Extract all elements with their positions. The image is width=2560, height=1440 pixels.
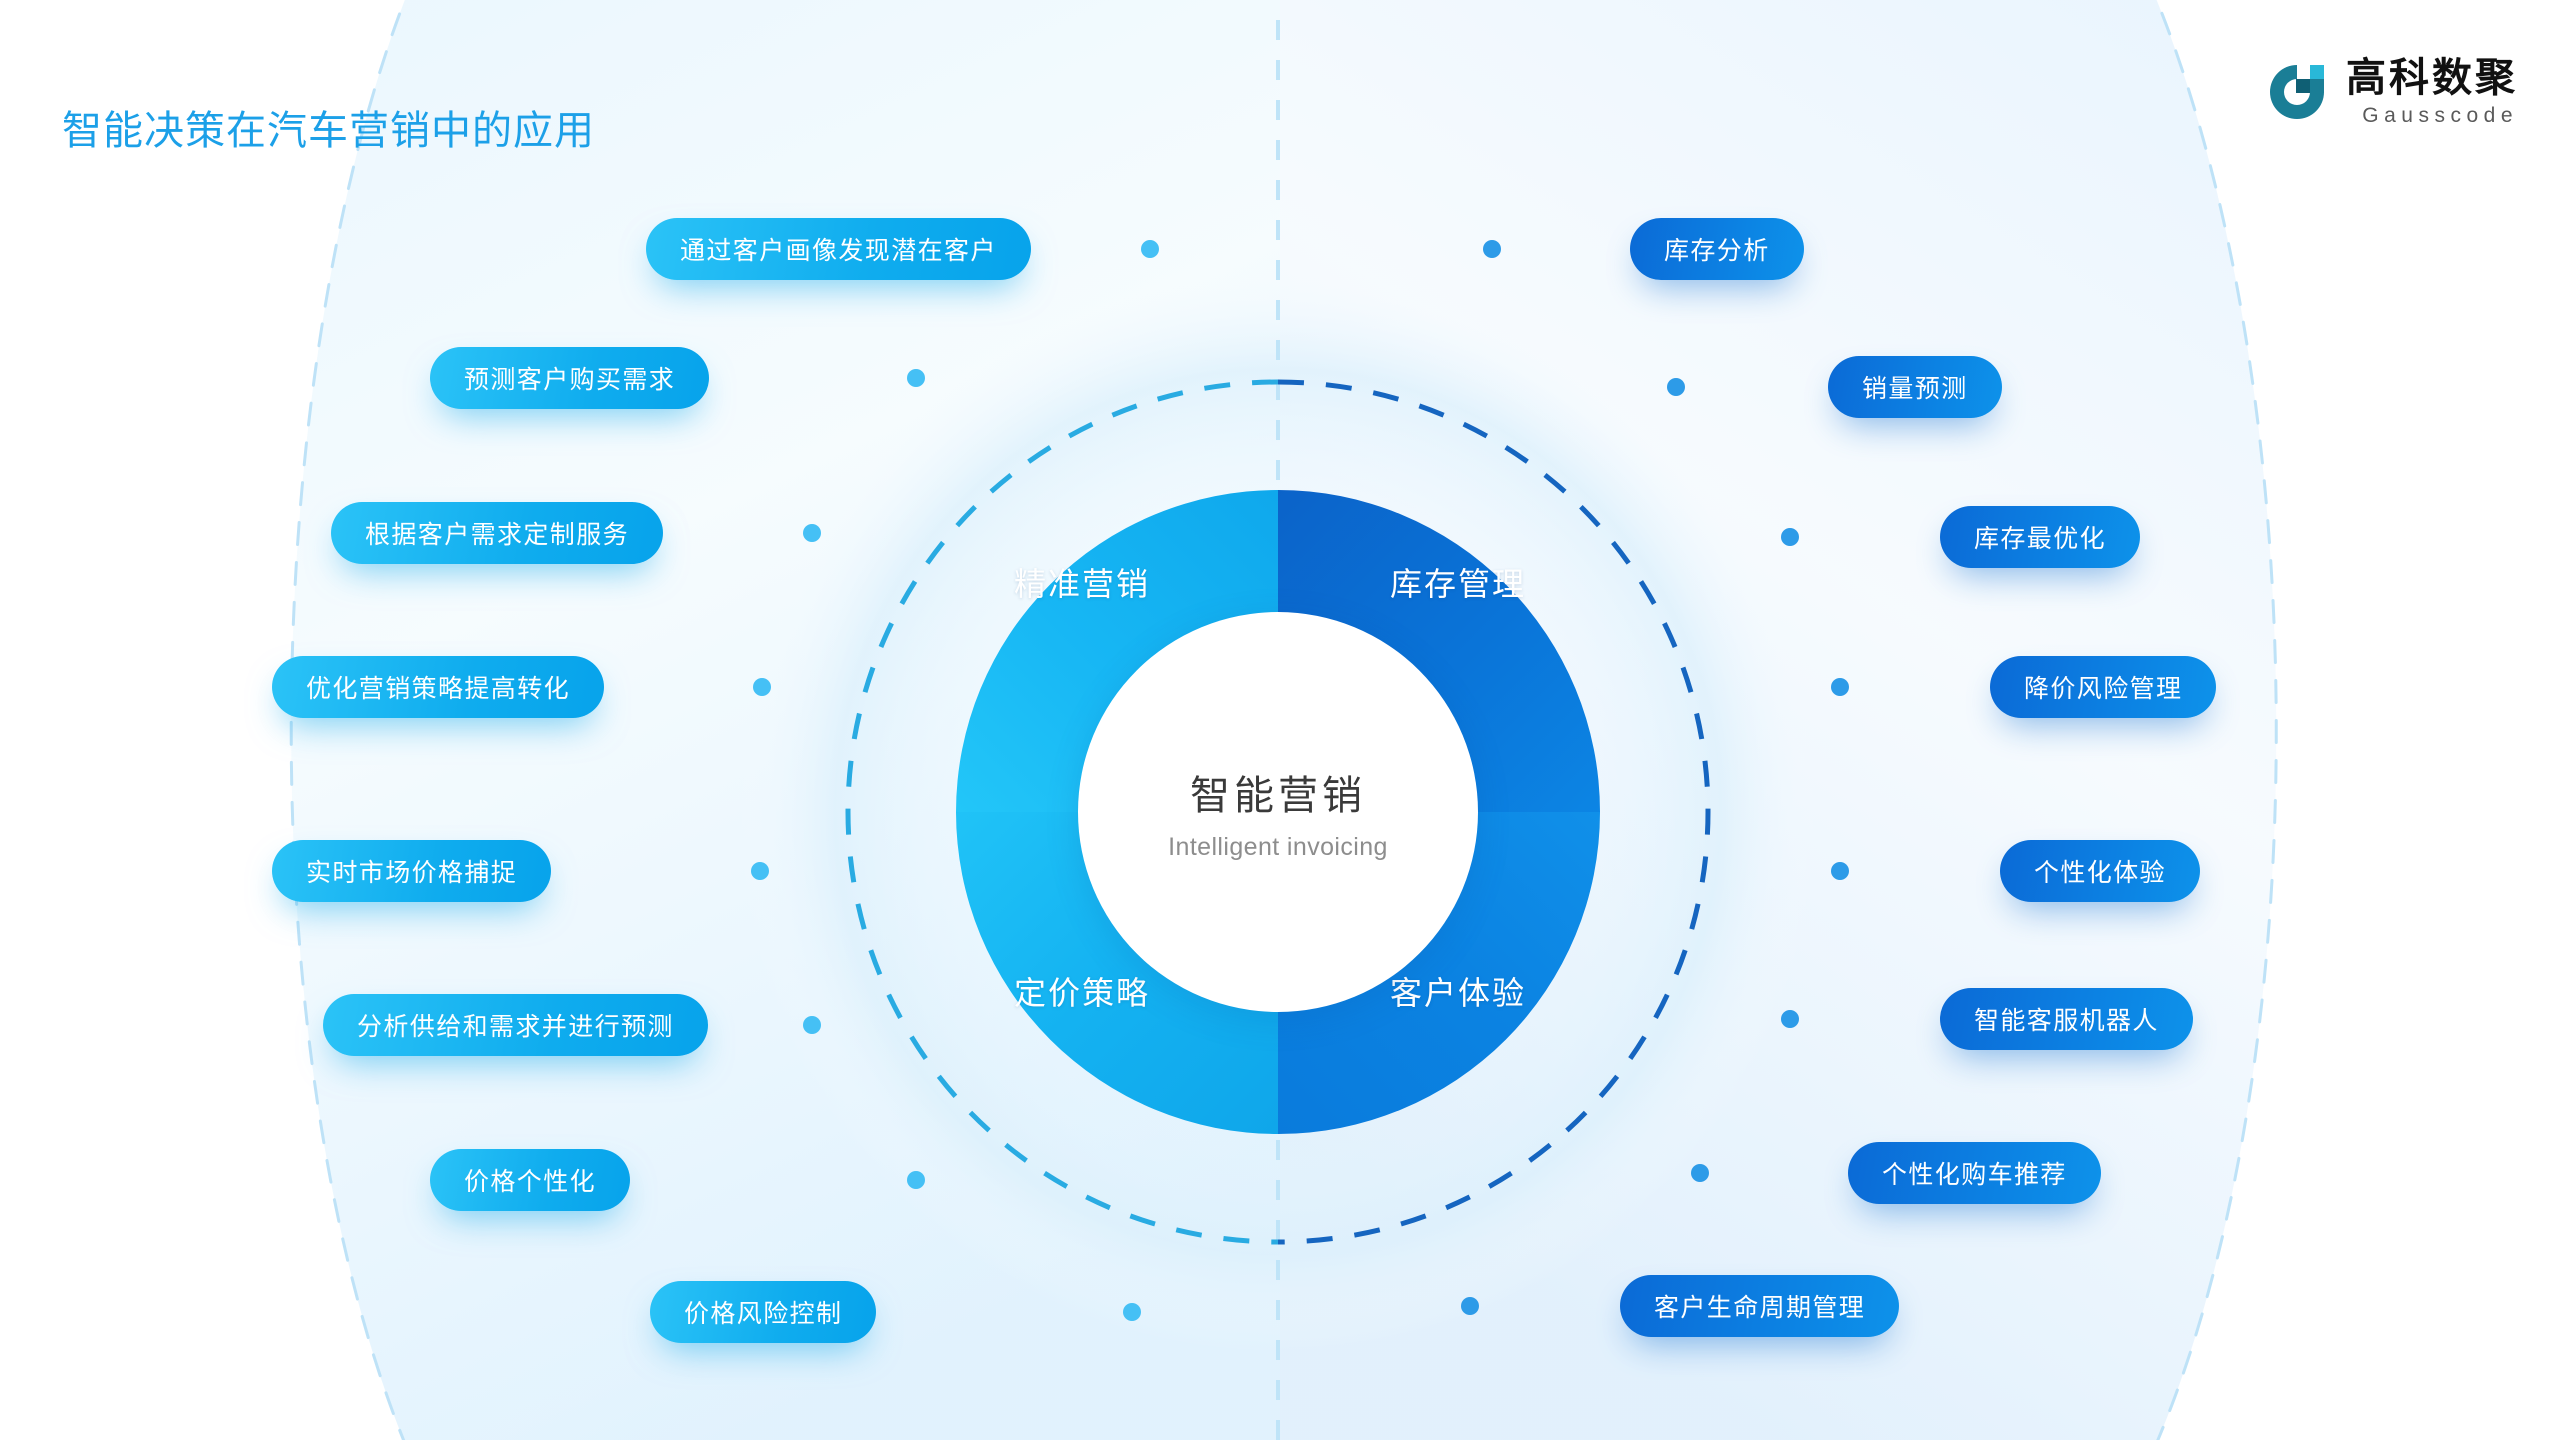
right-item-5-label: 个性化体验 bbox=[2034, 853, 2166, 889]
left-item-4[interactable]: 优化营销策略提高转化 bbox=[272, 656, 604, 718]
page-title: 智能决策在汽车营销中的应用 bbox=[62, 98, 595, 156]
right-item-8-label: 客户生命周期管理 bbox=[1654, 1288, 1865, 1324]
left-item-2[interactable]: 预测客户购买需求 bbox=[430, 347, 709, 409]
brand-name-cn: 高科数聚 bbox=[2346, 58, 2518, 98]
right-item-6-label: 智能客服机器人 bbox=[1974, 1001, 2159, 1037]
left-item-4-label: 优化营销策略提高转化 bbox=[306, 669, 570, 705]
right-item-1[interactable]: 库存分析 bbox=[1630, 218, 1804, 280]
quadrant-label-bottom-right: 客户体验 bbox=[1390, 968, 1526, 1014]
right-item-4[interactable]: 降价风险管理 bbox=[1990, 656, 2216, 718]
right-item-2[interactable]: 销量预测 bbox=[1828, 356, 2002, 418]
right-item-2-label: 销量预测 bbox=[1862, 369, 1968, 405]
left-item-3[interactable]: 根据客户需求定制服务 bbox=[331, 502, 663, 564]
right-item-5[interactable]: 个性化体验 bbox=[2000, 840, 2200, 902]
center-hub: 智能营销 Intelligent invoicing bbox=[1078, 612, 1478, 1012]
left-item-8[interactable]: 价格风险控制 bbox=[650, 1281, 876, 1343]
hub-title-cn: 智能营销 bbox=[1190, 763, 1366, 821]
right-item-8[interactable]: 客户生命周期管理 bbox=[1620, 1275, 1899, 1337]
left-item-6[interactable]: 分析供给和需求并进行预测 bbox=[323, 994, 708, 1056]
core-diagram: 精准营销 库存管理 定价策略 客户体验 智能营销 Intelligent inv… bbox=[798, 332, 1758, 1292]
left-item-8-label: 价格风险控制 bbox=[684, 1294, 842, 1330]
quadrant-label-top-right: 库存管理 bbox=[1390, 559, 1526, 605]
right-item-6[interactable]: 智能客服机器人 bbox=[1940, 988, 2193, 1050]
left-item-7-label: 价格个性化 bbox=[464, 1162, 596, 1198]
left-item-1[interactable]: 通过客户画像发现潜在客户 bbox=[646, 218, 1031, 280]
right-item-3-label: 库存最优化 bbox=[1974, 519, 2106, 555]
quadrant-label-bottom-left: 定价策略 bbox=[1014, 968, 1150, 1014]
right-item-4-label: 降价风险管理 bbox=[2024, 669, 2182, 705]
hub-title-en: Intelligent invoicing bbox=[1168, 833, 1388, 862]
right-item-7[interactable]: 个性化购车推荐 bbox=[1848, 1142, 2101, 1204]
left-item-2-label: 预测客户购买需求 bbox=[464, 360, 675, 396]
right-item-1-label: 库存分析 bbox=[1664, 231, 1770, 267]
left-item-1-label: 通过客户画像发现潜在客户 bbox=[680, 231, 997, 267]
left-item-7[interactable]: 价格个性化 bbox=[430, 1149, 630, 1211]
left-item-5-label: 实时市场价格捕捉 bbox=[306, 853, 517, 889]
left-item-6-label: 分析供给和需求并进行预测 bbox=[357, 1007, 674, 1043]
left-item-3-label: 根据客户需求定制服务 bbox=[365, 515, 629, 551]
quadrant-label-top-left: 精准营销 bbox=[1014, 559, 1150, 605]
left-item-5[interactable]: 实时市场价格捕捉 bbox=[272, 840, 551, 902]
brand-name-en: Gausscode bbox=[2346, 105, 2518, 126]
right-item-3[interactable]: 库存最优化 bbox=[1940, 506, 2140, 568]
gausscode-logo-icon bbox=[2266, 61, 2328, 123]
right-item-7-label: 个性化购车推荐 bbox=[1882, 1155, 2067, 1191]
brand-logo: 高科数聚 Gausscode bbox=[2266, 58, 2518, 126]
